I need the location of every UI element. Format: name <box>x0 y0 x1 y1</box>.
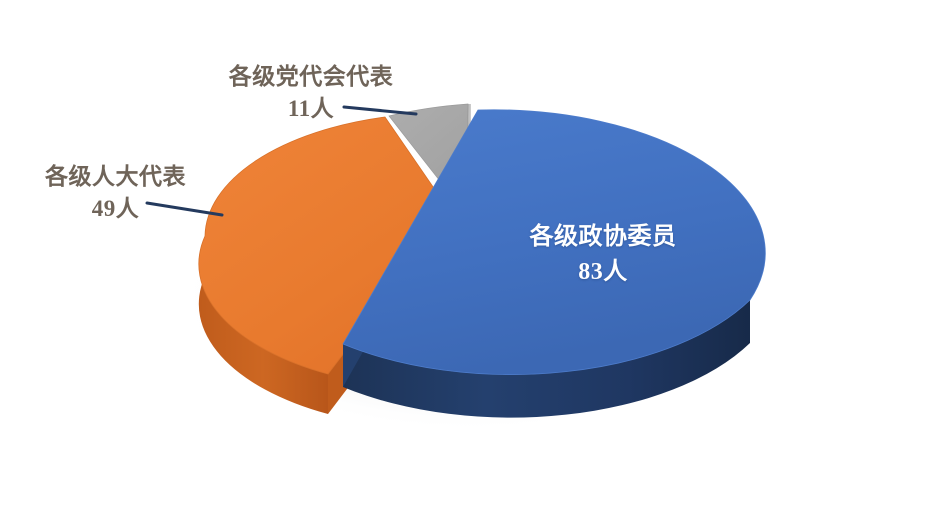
slice-label-cppcc: 各级政协委员 83人 <box>488 222 718 288</box>
slice-label-npc-value: 49人 <box>8 194 223 224</box>
slice-label-cppcc-name: 各级政协委员 <box>488 222 718 254</box>
pie-chart-svg <box>0 0 929 523</box>
slice-label-npc: 各级人大代表 49人 <box>8 162 223 224</box>
pie-chart-figure: 各级党代会代表 11人 各级人大代表 49人 各级政协委员 83人 <box>0 0 929 523</box>
slice-label-party-congress-value: 11人 <box>196 94 426 124</box>
slice-label-npc-name: 各级人大代表 <box>8 162 223 192</box>
slice-label-party-congress: 各级党代会代表 11人 <box>196 62 426 124</box>
slice-label-cppcc-value: 83人 <box>488 257 718 289</box>
slice-label-party-congress-name: 各级党代会代表 <box>196 62 426 92</box>
